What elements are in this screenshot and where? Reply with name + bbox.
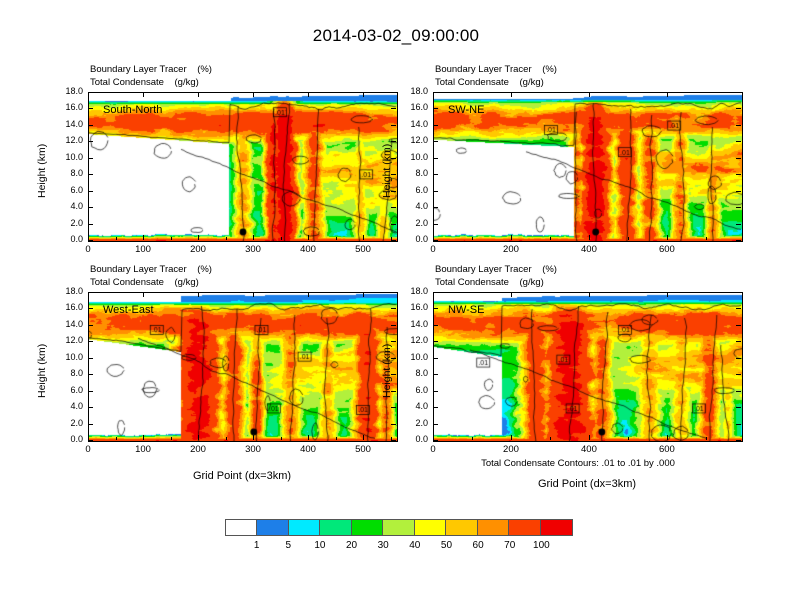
- x-tick: [667, 292, 668, 297]
- y-tick-label: 14.0: [392, 319, 428, 329]
- colorbar-band: [478, 520, 509, 535]
- y-tick: [433, 407, 438, 408]
- y-tick: [736, 325, 741, 326]
- x-tick-label: 400: [566, 444, 612, 455]
- y-tick: [736, 391, 741, 392]
- x-tick-minor: [706, 437, 707, 440]
- y-tick: [736, 308, 741, 309]
- panel-header-nw-se: Boundary Layer Tracer (%)Total Condensat…: [435, 264, 557, 289]
- plot-area-nw-se: NW-SE: [433, 292, 743, 442]
- y-tick: [433, 391, 438, 392]
- y-tick-label: 18.0: [392, 286, 428, 296]
- colorbar-band: [320, 520, 351, 535]
- y-tick: [736, 341, 741, 342]
- x-axis-title: Grid Point (dx=3km): [152, 470, 332, 482]
- x-tick-label: 0: [410, 444, 456, 455]
- panel-grid: Boundary Layer Tracer (%)Total Condensat…: [0, 0, 792, 500]
- x-tick-minor: [667, 437, 668, 440]
- y-axis-title: Height (km): [381, 344, 393, 398]
- contour-note: Total Condensate Contours: .01 to .01 by…: [481, 458, 675, 469]
- y-tick-label: 0.0: [392, 434, 428, 444]
- x-tick-minor: [433, 437, 434, 440]
- y-tick: [433, 424, 438, 425]
- x-tick: [589, 292, 590, 297]
- y-tick: [736, 292, 741, 293]
- y-tick: [433, 374, 438, 375]
- header-line-tracer: Boundary Layer Tracer (%): [435, 264, 557, 277]
- y-tick-label: 10.0: [392, 352, 428, 362]
- x-tick-label: 600: [644, 444, 690, 455]
- colorbar-band: [509, 520, 540, 535]
- y-tick-label: 4.0: [392, 401, 428, 411]
- x-axis-title: Grid Point (dx=3km): [497, 478, 677, 490]
- x-tick-minor: [589, 437, 590, 440]
- y-tick: [736, 407, 741, 408]
- colorbar-band: [415, 520, 446, 535]
- header-line-condensate: Total Condensate (g/kg): [435, 277, 557, 290]
- x-tick-minor: [511, 437, 512, 440]
- x-tick-minor: [628, 437, 629, 440]
- y-tick-label: 8.0: [392, 368, 428, 378]
- y-tick-label: 12.0: [392, 335, 428, 345]
- y-tick: [433, 325, 438, 326]
- y-tick: [736, 358, 741, 359]
- panel-nw-se: Boundary Layer Tracer (%)Total Condensat…: [0, 0, 792, 500]
- x-tick-minor: [472, 437, 473, 440]
- x-tick: [433, 292, 434, 297]
- y-tick-label: 16.0: [392, 302, 428, 312]
- contour-field-nw-se: [434, 293, 742, 441]
- y-tick-label: 2.0: [392, 418, 428, 428]
- y-tick: [736, 374, 741, 375]
- y-tick-label: 6.0: [392, 385, 428, 395]
- y-tick: [433, 341, 438, 342]
- colorbar: [225, 519, 573, 536]
- colorbar-band: [383, 520, 414, 535]
- y-tick: [736, 424, 741, 425]
- x-tick-minor: [550, 437, 551, 440]
- y-tick: [736, 440, 741, 441]
- colorbar-band: [226, 520, 257, 535]
- y-tick: [433, 358, 438, 359]
- colorbar-band: [352, 520, 383, 535]
- colorbar-band: [446, 520, 477, 535]
- colorbar-band: [257, 520, 288, 535]
- x-tick: [511, 292, 512, 297]
- colorbar-band: [541, 520, 572, 535]
- figure-root: 2014-03-02_09:00:00 Boundary Layer Trace…: [0, 0, 792, 612]
- colorbar-band: [289, 520, 320, 535]
- y-tick: [433, 308, 438, 309]
- y-tick: [433, 440, 438, 441]
- colorbar-tick-label: 100: [521, 540, 561, 551]
- x-tick-label: 200: [488, 444, 534, 455]
